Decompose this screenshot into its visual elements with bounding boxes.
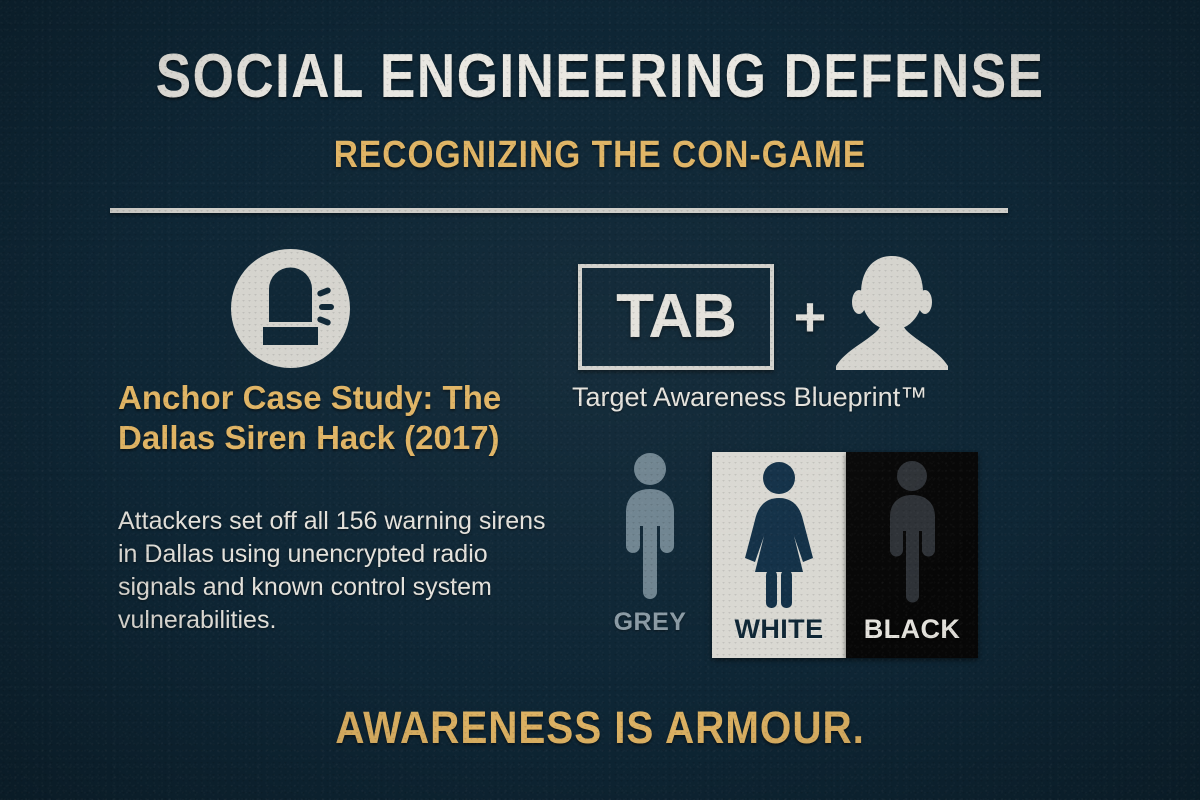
- figure-group-grey: GREY: [600, 452, 700, 658]
- figure-label-grey: GREY: [600, 607, 700, 637]
- tab-caption: Target Awareness Blueprint™: [572, 380, 1002, 414]
- page-title: SOCIAL ENGINEERING DEFENSE: [84, 46, 1116, 108]
- siren-icon: [231, 249, 350, 368]
- footer-tagline: AWARENESS IS ARMOUR.: [60, 704, 1140, 752]
- male-figure-icon: [614, 452, 686, 600]
- page-subtitle: RECOGNIZING THE CON-GAME: [72, 136, 1128, 174]
- figure-label-black: BLACK: [846, 614, 978, 644]
- female-figure-icon: [739, 460, 819, 610]
- case-study-body: Attackers set off all 156 warning sirens…: [118, 505, 548, 637]
- plus-operator: +: [786, 289, 834, 345]
- tab-acronym-label: TAB: [616, 286, 736, 348]
- tab-acronym-box: TAB: [578, 264, 774, 370]
- header-divider: [110, 208, 1008, 213]
- case-study-heading: Anchor Case Study: The Dallas Siren Hack…: [118, 378, 558, 458]
- figure-panel-black: BLACK: [846, 452, 978, 658]
- figure-label-white: WHITE: [712, 614, 846, 644]
- figure-panel-white: WHITE: [712, 452, 846, 658]
- male-figure-icon: [879, 460, 945, 604]
- person-bust-icon: [828, 254, 956, 370]
